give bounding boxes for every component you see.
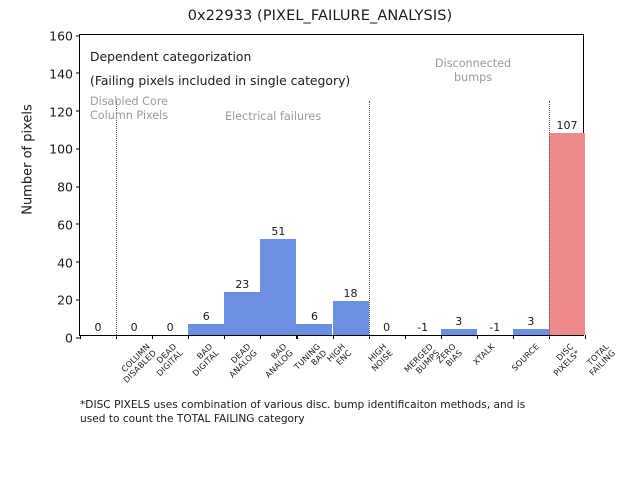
bar-value-label: 6: [311, 310, 318, 323]
x-axis-tick-mark: [260, 335, 261, 339]
x-axis-tick-mark: [513, 335, 514, 339]
y-axis-tick: 80: [57, 177, 80, 196]
bar[interactable]: [296, 324, 332, 335]
y-axis-tick: 60: [57, 214, 80, 233]
pixel-failure-analysis-figure: 0x22933 (PIXEL_FAILURE_ANALYSIS) Number …: [0, 0, 640, 480]
plot-inner: 020406080100120140160000623516180-13-131…: [80, 35, 583, 335]
chart-footnote: *DISC PIXELS uses combination of various…: [80, 398, 600, 426]
y-axis-tick-mark: [76, 73, 80, 74]
category-divider-line: [549, 101, 550, 337]
y-axis-tick-mark: [76, 111, 80, 112]
x-axis-tick-label: BAD ANALOG: [258, 342, 296, 380]
x-axis-tick-mark: [585, 335, 586, 339]
x-axis-tick-mark: [333, 335, 334, 339]
x-axis-tick-label: XTALK: [471, 342, 496, 367]
x-axis-tick-mark: [188, 335, 189, 339]
y-axis-tick: 140: [49, 63, 80, 82]
x-axis-tick-mark: [296, 335, 297, 339]
x-axis-tick-label: SOURCE: [510, 342, 541, 373]
y-axis-tick-mark: [76, 224, 80, 225]
bar-value-label: 107: [556, 119, 577, 132]
x-axis-tick-mark: [152, 335, 153, 339]
bar[interactable]: [513, 329, 549, 335]
x-axis-tick-label: DEAD DIGITAL: [149, 342, 185, 378]
y-axis-tick: 40: [57, 252, 80, 271]
bar[interactable]: [260, 239, 296, 335]
bar[interactable]: [188, 324, 224, 335]
x-axis-tick-label: ZERO BIAS: [435, 342, 465, 372]
bar-value-label: 3: [527, 315, 534, 328]
bar-value-label: 18: [344, 287, 358, 300]
annotation-group-electrical: Electrical failures: [225, 110, 321, 124]
x-axis-tick-label: TUNING BAD: [293, 342, 329, 378]
x-axis-tick-mark: [405, 335, 406, 339]
bar-value-label: 3: [455, 315, 462, 328]
y-axis-tick-mark: [76, 262, 80, 263]
y-axis-tick: 160: [49, 26, 80, 45]
bar-value-label: 0: [95, 321, 102, 334]
category-divider-line: [369, 101, 370, 337]
bar[interactable]: [549, 133, 585, 335]
bar-value-label: 51: [271, 225, 285, 238]
bar-value-label: 0: [131, 321, 138, 334]
x-axis-tick-mark: [441, 335, 442, 339]
bar-value-label: -1: [489, 321, 500, 334]
bar-value-label: 23: [235, 278, 249, 291]
bar[interactable]: [333, 301, 369, 335]
bar-value-label: 0: [167, 321, 174, 334]
x-axis-tick-label: DEAD ANALOG: [222, 342, 260, 380]
annotation-group-disabled-core: Disabled Core Column Pixels: [90, 95, 168, 124]
bar-value-label: 0: [383, 321, 390, 334]
y-axis-tick-mark: [76, 148, 80, 149]
x-axis-tick-label: MERGED BUMPS: [402, 342, 441, 381]
x-axis-tick-mark: [80, 335, 81, 339]
bar[interactable]: [441, 329, 477, 335]
plot-area: 020406080100120140160000623516180-13-131…: [79, 34, 584, 336]
bar-value-label: 6: [203, 310, 210, 323]
category-divider-line: [116, 101, 117, 337]
x-axis-tick-label: DISC PIXELS*: [546, 342, 582, 378]
x-axis-tick-label: HIGH ENC: [326, 342, 354, 370]
x-axis-tick-label: HIGH NOISE: [363, 342, 394, 373]
y-axis-tick: 120: [49, 101, 80, 120]
x-axis-tick-label: TOTAL FAILING: [581, 342, 617, 378]
x-axis-tick-mark: [224, 335, 225, 339]
y-axis-tick: 0: [65, 328, 80, 347]
y-axis-tick-mark: [76, 299, 80, 300]
y-axis-tick-mark: [76, 186, 80, 187]
y-axis-tick: 20: [57, 290, 80, 309]
chart-title: 0x22933 (PIXEL_FAILURE_ANALYSIS): [0, 8, 640, 24]
x-axis-tick-mark: [477, 335, 478, 339]
x-axis-tick-label: BAD DIGITAL: [185, 342, 221, 378]
y-axis-tick: 100: [49, 139, 80, 158]
annotation-group-disconnected: Disconnected bumps: [435, 57, 511, 86]
y-axis-label: Number of pixels: [21, 50, 36, 270]
bar[interactable]: [224, 292, 260, 335]
annotation-failing-pixels-note: (Failing pixels included in single categ…: [90, 73, 350, 89]
bar-value-label: -1: [417, 321, 428, 334]
y-axis-tick-mark: [76, 35, 80, 36]
annotation-dependent-categorization: Dependent categorization: [90, 49, 251, 65]
